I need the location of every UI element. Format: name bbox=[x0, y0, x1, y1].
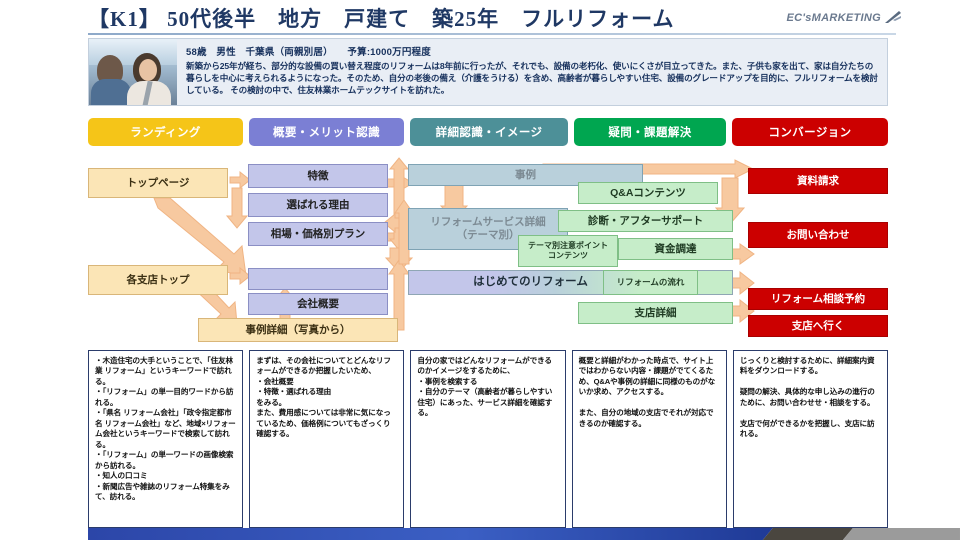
persona-body: 新築から25年が経ち、部分的な設備の買い替え程度のリフォームは8年前に行ったが、… bbox=[186, 60, 879, 97]
node-after-support[interactable]: 診断・アフターサポート bbox=[558, 210, 733, 232]
node-company-sub[interactable] bbox=[248, 268, 388, 290]
note-column-4: じっくりと検討するために、詳細案内資料をダウンロードする。 疑問の解決、具体的な… bbox=[733, 350, 888, 528]
journey-diagram: トップページ 各支店トップ 事例詳細（写真から） 特徴 選ばれる理由 相場・価格… bbox=[88, 160, 888, 345]
node-funding[interactable]: 資金調達 bbox=[618, 238, 733, 260]
node-top-page[interactable]: トップページ bbox=[88, 168, 228, 198]
phase-header-2[interactable]: 詳細認識・イメージ bbox=[410, 118, 568, 146]
node-cv-booking[interactable]: リフォーム相談予約 bbox=[748, 288, 888, 310]
phase-header-1[interactable]: 概要・メリット認識 bbox=[249, 118, 404, 146]
phase-header-0[interactable]: ランディング bbox=[88, 118, 243, 146]
node-branch-top[interactable]: 各支店トップ bbox=[88, 265, 228, 295]
node-qa-content[interactable]: Q&Aコンテンツ bbox=[578, 182, 718, 204]
footer-segment-blue bbox=[88, 528, 773, 540]
phase-header-bar: ランディング概要・メリット認識詳細認識・イメージ疑問・課題解決コンバージョン bbox=[88, 118, 888, 146]
node-company-profile[interactable]: 会社概要 bbox=[248, 293, 388, 315]
node-reason[interactable]: 選ばれる理由 bbox=[248, 193, 388, 217]
note-column-3: 概要と詳細がわかった時点で、サイト上ではわからない内容・課題がでてくるため、Q&… bbox=[572, 350, 727, 528]
persona-panel: 58歳 男性 千葉県（両親別居） 予算:1000万円程度 新築から25年が経ち、… bbox=[88, 38, 888, 106]
node-theme-points[interactable]: テーマ別注意ポイント コンテンツ bbox=[518, 235, 618, 267]
footer-bar bbox=[0, 528, 960, 540]
node-cv-visit[interactable]: 支店へ行く bbox=[748, 315, 888, 337]
persona-headline: 58歳 男性 千葉県（両親別居） 予算:1000万円程度 bbox=[186, 44, 879, 58]
node-cv-document[interactable]: 資料請求 bbox=[748, 168, 888, 194]
node-branch-detail[interactable]: 支店詳細 bbox=[578, 302, 733, 324]
node-cv-contact[interactable]: お問い合わせ bbox=[748, 222, 888, 248]
footer-segment-gray bbox=[843, 528, 960, 540]
note-column-1: まずは、その会社についてとどんなリフォームができるか把握したいため、 ・会社概要… bbox=[249, 350, 404, 528]
swoosh-icon bbox=[884, 11, 902, 24]
brand-logo: EC'sMARKETING bbox=[786, 11, 902, 24]
title-divider bbox=[88, 33, 896, 35]
note-column-0: ・木造住宅の大手ということで、「住友林業 リフォーム」というキーワードで訪れる。… bbox=[88, 350, 243, 528]
phase-header-4[interactable]: コンバージョン bbox=[732, 118, 888, 146]
node-price-plan[interactable]: 相場・価格別プラン bbox=[248, 222, 388, 246]
node-reform-flow[interactable]: リフォームの流れ bbox=[603, 270, 698, 295]
note-columns: ・木造住宅の大手ということで、「住友林業 リフォーム」というキーワードで訪れる。… bbox=[88, 350, 888, 528]
phase-header-3[interactable]: 疑問・課題解決 bbox=[574, 118, 726, 146]
slide-canvas: 【K1】 50代後半 地方 戸建て 築25年 フルリフォーム EC'sMARKE… bbox=[0, 0, 960, 540]
persona-text: 58歳 男性 千葉県（両親別居） 予算:1000万円程度 新築から25年が経ち、… bbox=[177, 39, 887, 105]
node-feature[interactable]: 特徴 bbox=[248, 164, 388, 188]
footer-segment-dark bbox=[763, 528, 853, 540]
persona-photo bbox=[89, 39, 177, 105]
node-case-detail[interactable]: 事例詳細（写真から） bbox=[198, 318, 398, 342]
brand-logo-text: EC'sMARKETING bbox=[786, 12, 881, 24]
note-column-2: 自分の家ではどんなリフォームができるのかイメージをするために、 ・事例を検索する… bbox=[410, 350, 565, 528]
page-title: 【K1】 50代後半 地方 戸建て 築25年 フルリフォーム bbox=[88, 4, 728, 34]
